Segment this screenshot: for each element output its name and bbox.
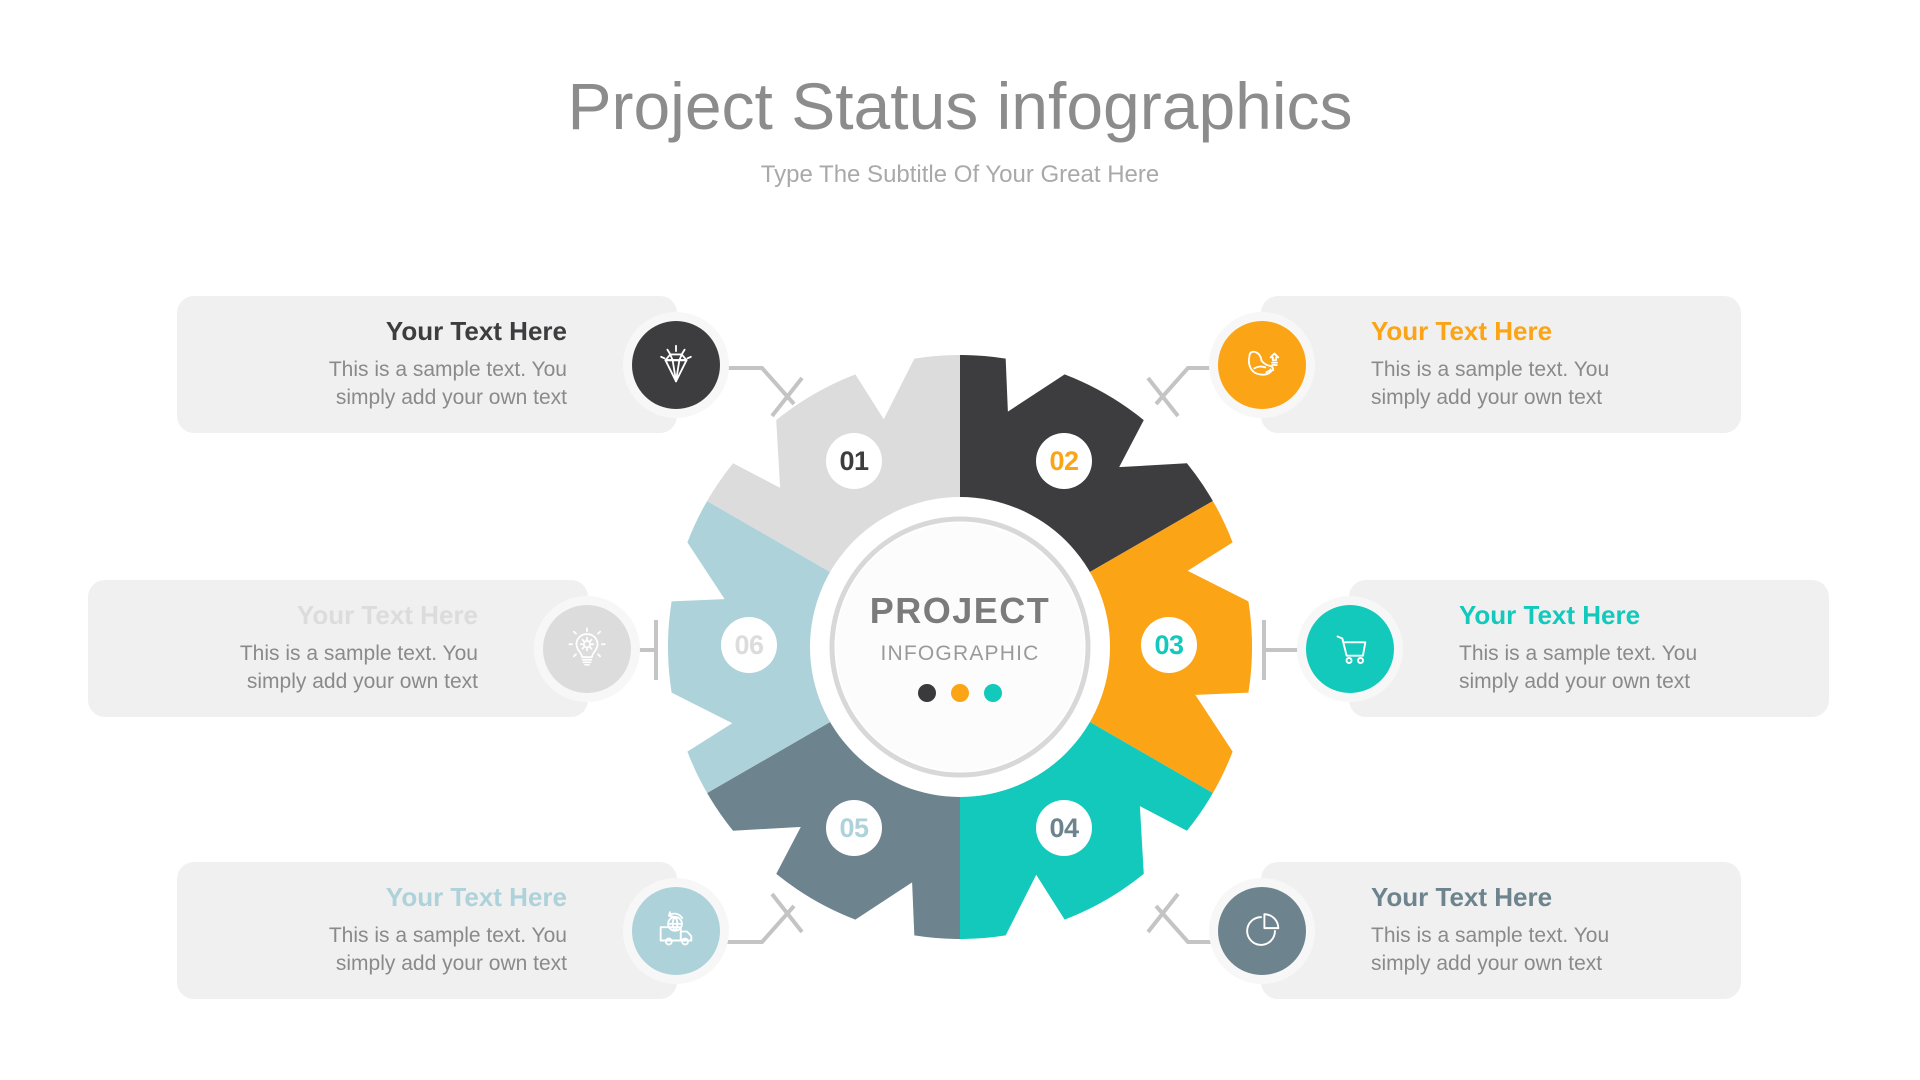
segment-badge-label: 06 bbox=[734, 630, 763, 661]
info-card-03[interactable]: Your Text Here This is a sample text. Yo… bbox=[1349, 580, 1829, 717]
card-desc: This is a sample text. You simply add yo… bbox=[329, 356, 567, 411]
segment-badge-03[interactable]: 03 bbox=[1141, 617, 1197, 673]
info-card-05[interactable]: Your Text Here This is a sample text. Yo… bbox=[177, 862, 677, 999]
pie-chart-icon bbox=[1239, 908, 1285, 954]
lightbulb-gear-icon bbox=[564, 626, 610, 672]
icon-bubble-03[interactable] bbox=[1297, 596, 1403, 702]
segment-badge-label: 01 bbox=[839, 446, 868, 477]
segment-badge-label: 04 bbox=[1049, 813, 1078, 844]
segment-badge-04[interactable]: 04 bbox=[1036, 800, 1092, 856]
icon-disc-03 bbox=[1306, 605, 1394, 693]
icon-disc-01 bbox=[632, 321, 720, 409]
shopping-cart-icon bbox=[1327, 626, 1373, 672]
info-card-02[interactable]: Your Text Here This is a sample text. Yo… bbox=[1261, 296, 1741, 433]
icon-bubble-01[interactable] bbox=[623, 312, 729, 418]
info-card-06[interactable]: Your Text Here This is a sample text. Yo… bbox=[88, 580, 588, 717]
card-title: Your Text Here bbox=[1371, 883, 1552, 913]
card-title: Your Text Here bbox=[386, 883, 567, 913]
card-title: Your Text Here bbox=[1371, 317, 1552, 347]
icon-bubble-02[interactable] bbox=[1209, 312, 1315, 418]
card-title: Your Text Here bbox=[386, 317, 567, 347]
card-desc: This is a sample text. You simply add yo… bbox=[329, 922, 567, 977]
segment-badge-02[interactable]: 02 bbox=[1036, 433, 1092, 489]
card-desc: This is a sample text. You simply add yo… bbox=[1371, 922, 1609, 977]
icon-disc-02 bbox=[1218, 321, 1306, 409]
infographic-stage: PROJECT INFOGRAPHIC 01 02 03 04 05 06 Yo… bbox=[0, 0, 1920, 1080]
segment-badge-label: 05 bbox=[839, 813, 868, 844]
segment-badge-01[interactable]: 01 bbox=[826, 433, 882, 489]
segment-badge-label: 03 bbox=[1154, 630, 1183, 661]
card-desc: This is a sample text. You simply add yo… bbox=[1371, 356, 1609, 411]
diamond-icon bbox=[653, 342, 699, 388]
info-card-01[interactable]: Your Text Here This is a sample text. Yo… bbox=[177, 296, 677, 433]
icon-bubble-06[interactable] bbox=[534, 596, 640, 702]
info-card-04[interactable]: Your Text Here This is a sample text. Yo… bbox=[1261, 862, 1741, 999]
delivery-truck-icon bbox=[653, 908, 699, 954]
icon-disc-06 bbox=[543, 605, 631, 693]
icon-bubble-05[interactable] bbox=[623, 878, 729, 984]
card-desc: This is a sample text. You simply add yo… bbox=[240, 640, 478, 695]
icon-bubble-04[interactable] bbox=[1209, 878, 1315, 984]
icon-disc-04 bbox=[1218, 887, 1306, 975]
muscle-arm-icon bbox=[1239, 342, 1285, 388]
segment-badge-05[interactable]: 05 bbox=[826, 800, 882, 856]
segment-badge-label: 02 bbox=[1049, 446, 1078, 477]
icon-disc-05 bbox=[632, 887, 720, 975]
card-desc: This is a sample text. You simply add yo… bbox=[1459, 640, 1697, 695]
card-title: Your Text Here bbox=[1459, 601, 1640, 631]
card-title: Your Text Here bbox=[297, 601, 478, 631]
segment-badge-06[interactable]: 06 bbox=[721, 617, 777, 673]
